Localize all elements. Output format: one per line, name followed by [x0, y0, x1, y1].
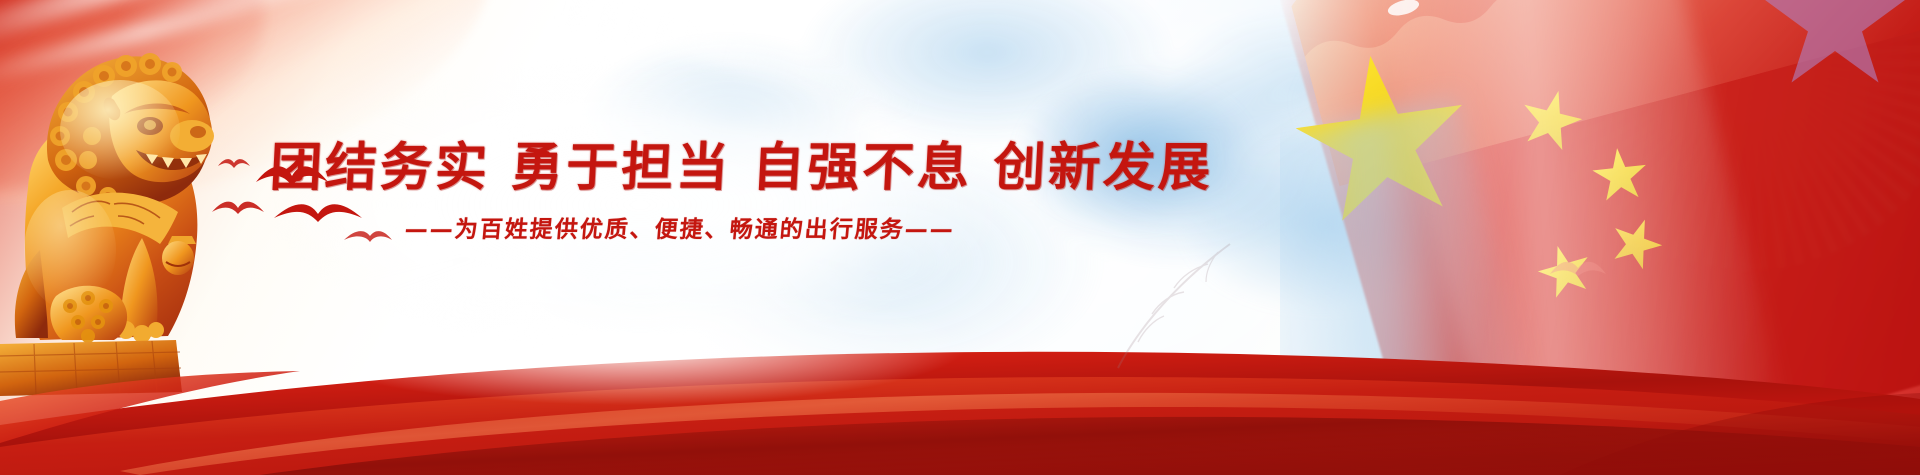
- branch-silhouette-icon: [1060, 240, 1240, 370]
- slogan-block: 团结务实 勇于担当 自强不息 创新发展 ——为百姓提供优质、便捷、畅通的出行服务…: [270, 140, 1090, 244]
- banner-root: 团结务实 勇于担当 自强不息 创新发展 ——为百姓提供优质、便捷、畅通的出行服务…: [0, 0, 1920, 475]
- birds-flock-icon: [212, 148, 392, 258]
- bottom-white-vignette: [180, 255, 1080, 405]
